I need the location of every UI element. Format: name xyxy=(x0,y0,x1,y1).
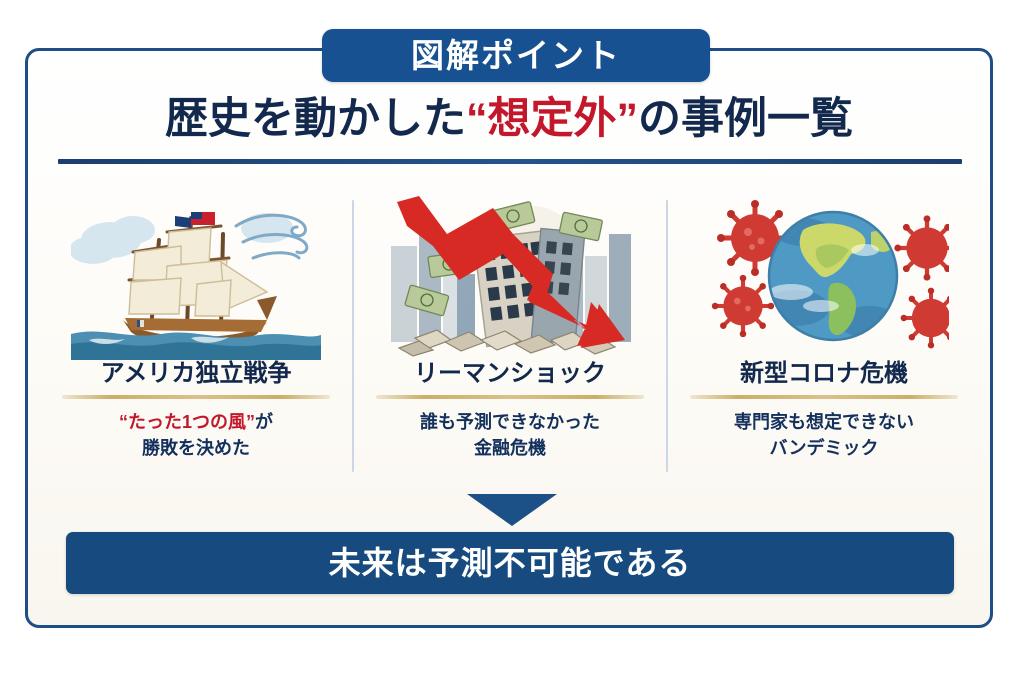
case-description-line1: 誰も予測できなかった xyxy=(420,410,600,436)
case-description-line2: 金融危機 xyxy=(420,436,600,462)
case-column-lehman-shock: リーマンショック 誰も予測できなかった 金融危機 xyxy=(354,188,666,478)
header-badge-label: 図解ポイント xyxy=(411,39,621,72)
page-title-highlight: “想定外” xyxy=(466,95,638,143)
sailing-ship-icon xyxy=(71,188,321,360)
market-crash-icon xyxy=(385,188,635,360)
conclusion-banner-label: 未来は予測不可能である xyxy=(329,547,692,579)
infographic-canvas: 図解ポイント 歴史を動かした“想定外”の事例一覧 xyxy=(0,0,1024,683)
down-arrow-icon xyxy=(467,494,557,526)
case-title-underline xyxy=(62,395,330,399)
case-description-line2: 勝敗を決めた xyxy=(119,436,273,462)
page-title-prefix: 歴史を動かした xyxy=(165,95,466,143)
case-title: アメリカ独立戦争 xyxy=(101,362,292,386)
case-title-underline xyxy=(376,395,644,399)
case-description-line1: “たった1つの風”が xyxy=(119,410,273,436)
case-description-line2: バンデミック xyxy=(734,436,914,462)
case-title: 新型コロナ危機 xyxy=(740,362,908,386)
case-description-tail: が xyxy=(255,412,273,432)
case-title: リーマンショック xyxy=(414,362,606,386)
globe-virus-icon xyxy=(699,188,949,360)
case-description: 専門家も想定できない バンデミック xyxy=(734,410,914,461)
page-title: 歴史を動かした“想定外”の事例一覧 xyxy=(25,95,993,144)
page-title-suffix: の事例一覧 xyxy=(638,95,853,143)
case-column-covid-crisis: 新型コロナ危機 専門家も想定できない バンデミック xyxy=(668,188,980,478)
conclusion-banner: 未来は予測不可能である xyxy=(66,532,954,594)
case-description-highlight: “たった1つの風” xyxy=(119,412,255,432)
case-description: 誰も予測できなかった 金融危機 xyxy=(420,410,600,461)
case-title-underline xyxy=(690,395,958,399)
case-columns: アメリカ独立戦争 “たった1つの風”が 勝敗を決めた xyxy=(40,188,980,478)
header-badge: 図解ポイント xyxy=(322,29,710,82)
case-column-american-revolution: アメリカ独立戦争 “たった1つの風”が 勝敗を決めた xyxy=(40,188,352,478)
title-divider-rule xyxy=(58,159,962,164)
case-description-line1: 専門家も想定できない xyxy=(734,410,914,436)
case-description: “たった1つの風”が 勝敗を決めた xyxy=(119,410,273,461)
